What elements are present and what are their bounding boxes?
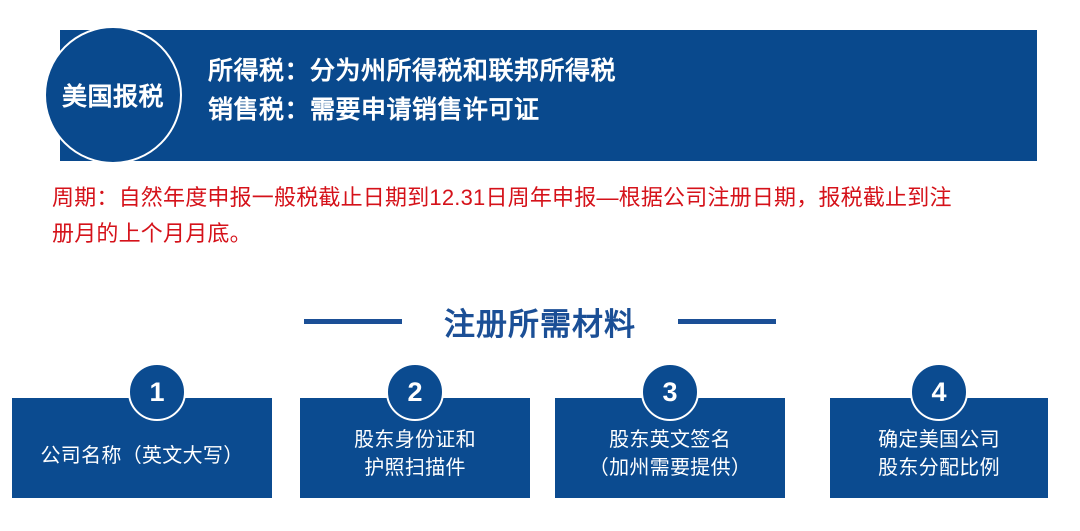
material-card-3-line-1: 股东英文签名 [589, 426, 751, 454]
material-card-2-number-badge: 2 [386, 363, 444, 421]
header-badge-circle: 美国报税 [44, 26, 182, 164]
material-card-2-number: 2 [407, 379, 422, 406]
material-card-1-number-badge: 1 [128, 363, 186, 421]
header-line-income-tax: 所得税：分为州所得税和联邦所得税 [208, 52, 1008, 91]
material-card-1-body: 公司名称（英文大写） [41, 426, 244, 470]
tax-period-note-line-2: 册月的上个月月底。 [52, 216, 1052, 252]
required-materials-cards: 公司名称（英文大写） 1 股东身份证和 护照扫描件 2 股东英文签名 （加州需要… [12, 363, 1068, 503]
material-card-2-line-2: 护照扫描件 [354, 454, 476, 482]
material-card-4-number: 4 [931, 379, 946, 406]
header-badge-label: 美国报税 [62, 77, 164, 113]
material-card-2-line-1: 股东身份证和 [354, 426, 476, 454]
material-card-3-body: 股东英文签名 （加州需要提供） [589, 426, 751, 482]
material-card-3-number-badge: 3 [641, 363, 699, 421]
material-card-4-number-badge: 4 [910, 363, 968, 421]
tax-period-note: 周期：自然年度申报一般税截止日期到12.31日周年申报—根据公司注册日期，报税截… [52, 180, 1052, 252]
header-line-sales-tax: 销售税：需要申请销售许可证 [208, 91, 1008, 130]
section-title-rule-left [304, 319, 402, 324]
section-title-rule-right [678, 319, 776, 324]
header-text-block: 所得税：分为州所得税和联邦所得税 销售税：需要申请销售许可证 [208, 52, 1008, 130]
section-title-text: 注册所需材料 [444, 299, 636, 344]
material-card-1-line-1: 公司名称（英文大写） [41, 442, 244, 470]
material-card-3-number: 3 [662, 379, 677, 406]
section-title-row: 注册所需材料 [0, 298, 1080, 344]
material-card-4-body: 确定美国公司 股东分配比例 [878, 426, 1000, 482]
material-card-2-body: 股东身份证和 护照扫描件 [354, 426, 476, 482]
material-card-4-line-1: 确定美国公司 [878, 426, 1000, 454]
tax-period-note-line-1: 周期：自然年度申报一般税截止日期到12.31日周年申报—根据公司注册日期，报税截… [52, 180, 1052, 216]
material-card-3-line-2: （加州需要提供） [589, 454, 751, 482]
material-card-1-number: 1 [149, 379, 164, 406]
material-card-4-line-2: 股东分配比例 [878, 454, 1000, 482]
